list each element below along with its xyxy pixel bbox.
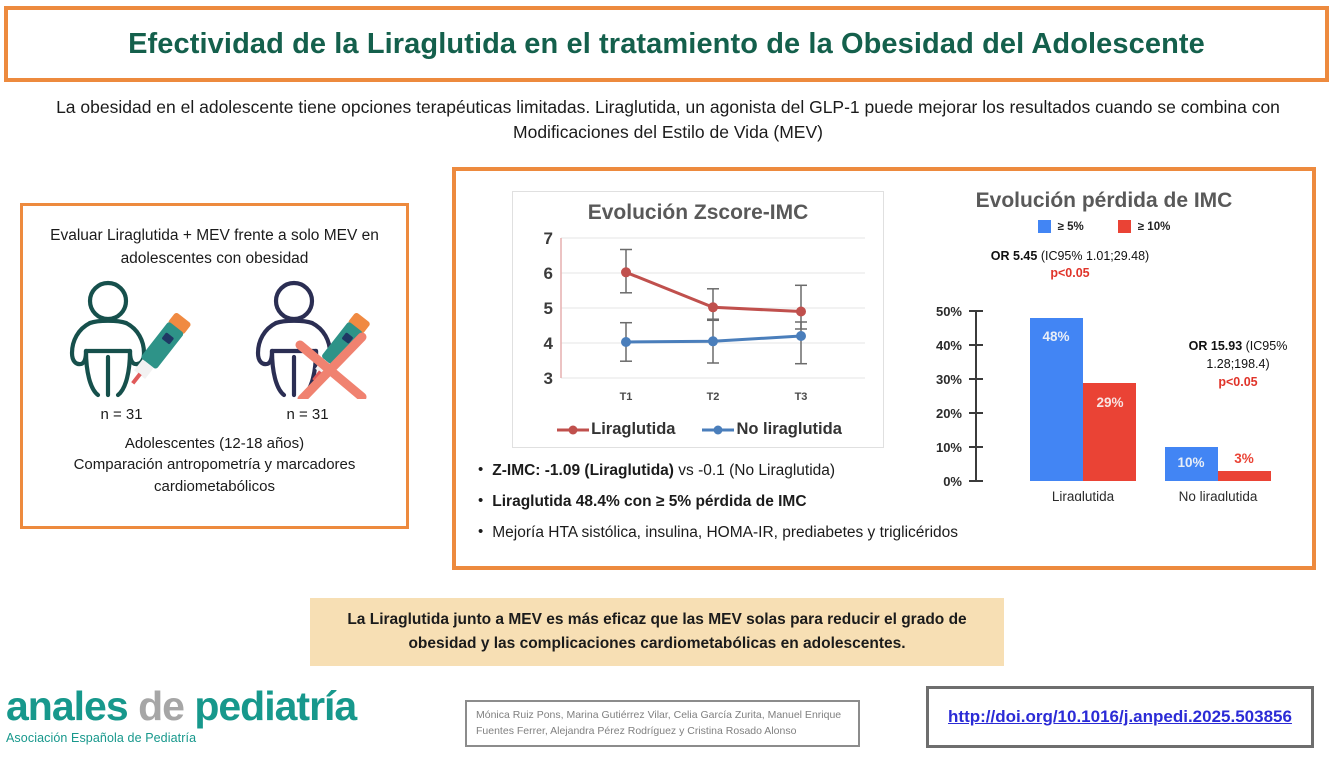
bar-label-29: 29% xyxy=(1096,395,1123,410)
y-tick-3: 3 xyxy=(544,369,553,388)
legend-label-ge5: ≥ 5% xyxy=(1058,221,1084,233)
bar-chart-legend: ≥ 5% ≥ 10% xyxy=(896,220,1312,233)
subtitle-text: La obesidad en el adolescente tiene opci… xyxy=(18,95,1318,146)
figures-row: n = 31 xyxy=(23,279,406,423)
bar-chart-title: Evolución pérdida de IMC xyxy=(896,189,1312,213)
legend-label-ge10: ≥ 10% xyxy=(1138,221,1171,233)
legend-item-liraglutida: Liraglutida xyxy=(556,420,675,439)
obese-person-with-pen-icon xyxy=(52,279,192,399)
bullet-3-rest: Mejoría HTA sistólica, insulina, HOMA-IR… xyxy=(492,524,958,541)
bullet-dot-icon: • xyxy=(478,461,483,479)
line-chart-legend: Liraglutida No liraglutida xyxy=(513,420,885,439)
line-chart: Evolución Zscore-IMC 7 6 5 4 3 T xyxy=(512,191,884,448)
legend-item-no-liraglutida: No liraglutida xyxy=(701,420,841,439)
legend-marker-blue xyxy=(701,423,735,437)
legend-swatch-blue xyxy=(1038,220,1051,233)
or-left-ci: (IC95% 1.01;29.48) xyxy=(1037,249,1149,263)
bullet-item: • Z-IMC: -1.09 (Liraglutida) vs -0.1 (No… xyxy=(478,461,1298,481)
bar-chart: Evolución pérdida de IMC ≥ 5% ≥ 10% xyxy=(896,185,1312,505)
or-left-p: p<0.05 xyxy=(940,266,1200,280)
doi-link[interactable]: http://doi.org/10.1016/j.anpedi.2025.503… xyxy=(948,707,1292,727)
x-tick-t2: T2 xyxy=(707,391,720,403)
or-left-value: OR 5.45 xyxy=(991,249,1038,263)
title-banner: Efectividad de la Liraglutida en el trat… xyxy=(4,6,1329,82)
logo-subtitle: Asociación Española de Pediatría xyxy=(6,731,386,745)
bullet-1-rest: vs -0.1 (No Liraglutida) xyxy=(674,462,835,479)
or-annotation-right: OR 15.93 (IC95% 1.28;198.4) p<0.05 xyxy=(1164,337,1312,389)
bullet-item: • Liraglutida 48.4% con ≥ 5% pérdida de … xyxy=(478,492,1298,512)
bar-label-48: 48% xyxy=(1042,329,1069,344)
logo-wordmark: anales de pediatría xyxy=(6,686,386,727)
line-chart-title: Evolución Zscore-IMC xyxy=(513,201,883,225)
figure-caption-left: n = 31 xyxy=(52,406,192,423)
page-title: Efectividad de la Liraglutida en el trat… xyxy=(128,28,1205,61)
journal-logo: anales de pediatría Asociación Española … xyxy=(6,686,386,745)
or-right-value: OR 15.93 xyxy=(1189,339,1243,353)
y-tick-50: 50% xyxy=(936,304,962,319)
bullet-dot-icon: • xyxy=(478,523,483,541)
y-tick-40: 40% xyxy=(936,338,962,353)
figure-caption-right: n = 31 xyxy=(238,406,378,423)
bullet-dot-icon: • xyxy=(478,492,483,510)
bullet-1-strong: Z-IMC: -1.09 (Liraglutida) xyxy=(492,462,674,479)
x-tick-t1: T1 xyxy=(620,391,633,403)
results-panel: Evolución Zscore-IMC 7 6 5 4 3 T xyxy=(452,167,1316,570)
figure-block-liraglutida: n = 31 xyxy=(52,279,192,423)
conclusion-banner: La Liraglutida junto a MEV es más eficaz… xyxy=(310,598,1004,666)
y-tick-6: 6 xyxy=(544,264,553,283)
y-tick-4: 4 xyxy=(544,334,554,353)
objective-panel: Evaluar Liraglutida + MEV frente a solo … xyxy=(20,203,409,529)
error-bars-liraglutida xyxy=(620,250,807,330)
logo-word-anales: anales xyxy=(6,683,128,729)
y-tick-20: 20% xyxy=(936,406,962,421)
y-tick-7: 7 xyxy=(544,230,553,248)
legend-swatch-red xyxy=(1118,220,1131,233)
results-bullet-list: • Z-IMC: -1.09 (Liraglutida) vs -0.1 (No… xyxy=(478,461,1298,554)
authors-box: Mónica Ruiz Pons, Marina Gutiérrez Vilar… xyxy=(465,700,860,747)
figure-block-no-liraglutida: n = 31 xyxy=(238,279,378,423)
objective-heading: Evaluar Liraglutida + MEV frente a solo … xyxy=(23,224,406,271)
logo-word-pediatria: pediatría xyxy=(194,683,356,729)
legend-item-ge5: ≥ 5% xyxy=(1038,220,1084,233)
logo-word-de: de xyxy=(138,683,184,729)
or-annotation-left: OR 5.45 (IC95% 1.01;29.48) p<0.05 xyxy=(940,249,1200,280)
authors-list: Mónica Ruiz Pons, Marina Gutiérrez Vilar… xyxy=(467,708,858,738)
y-tick-10: 10% xyxy=(936,440,962,455)
doi-box[interactable]: http://doi.org/10.1016/j.anpedi.2025.503… xyxy=(926,686,1314,748)
y-tick-5: 5 xyxy=(544,299,553,318)
line-chart-plot: 7 6 5 4 3 T1 T2 T3 xyxy=(513,230,885,410)
bullet-item: • Mejoría HTA sistólica, insulina, HOMA-… xyxy=(478,523,1298,543)
conclusion-text: La Liraglutida junto a MEV es más eficaz… xyxy=(310,608,1004,656)
obese-person-no-pen-icon xyxy=(238,279,378,399)
legend-label-liraglutida: Liraglutida xyxy=(591,420,675,439)
legend-marker-red xyxy=(556,423,590,437)
x-tick-t3: T3 xyxy=(795,391,808,403)
bullet-2-strong: Liraglutida 48.4% con ≥ 5% pérdida de IM… xyxy=(492,493,806,510)
legend-item-ge10: ≥ 10% xyxy=(1118,220,1171,233)
legend-label-no-liraglutida: No liraglutida xyxy=(736,420,841,439)
or-right-p: p<0.05 xyxy=(1164,375,1312,389)
y-tick-30: 30% xyxy=(936,372,962,387)
objective-footer: Adolescentes (12-18 años) Comparación an… xyxy=(23,433,406,498)
